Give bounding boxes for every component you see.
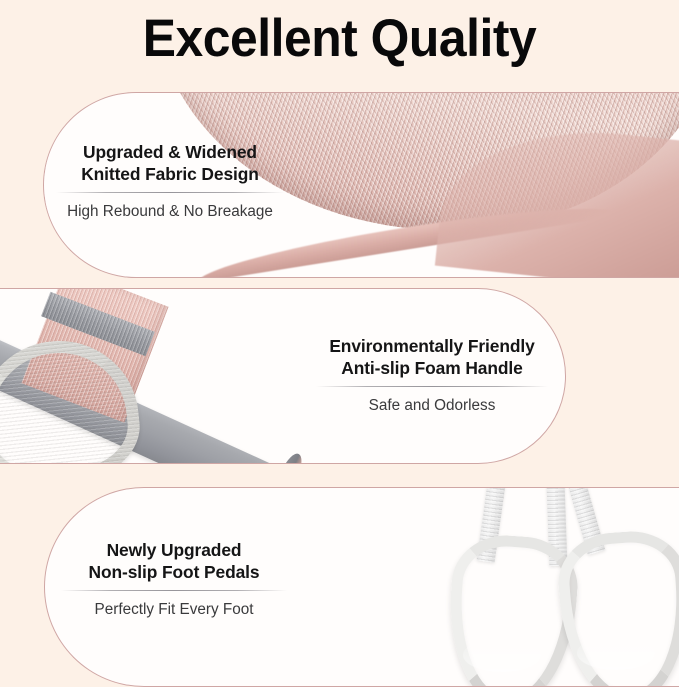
foam-tube-end-cap-shape	[273, 450, 307, 464]
feature-headline-line2: Non-slip Foot Pedals	[56, 562, 292, 584]
feature-text-knitted-fabric: Upgraded & Widened Knitted Fabric Design…	[52, 142, 288, 221]
feature-subtitle: High Rebound & No Breakage	[52, 202, 288, 221]
handle-loop-strap-shape	[0, 333, 145, 464]
feature-subtitle: Perfectly Fit Every Foot	[56, 600, 292, 619]
pedal-riser-strap-center-shape	[547, 487, 568, 566]
feature-headline-line1: Environmentally Friendly	[312, 336, 552, 358]
pedal-riser-strap-left-shape	[477, 487, 506, 563]
pink-webbing-strap-shape	[21, 288, 168, 423]
feature-subtitle: Safe and Odorless	[312, 396, 552, 415]
pedal-loop-left-sheen	[463, 638, 541, 672]
pedal-loop-right-sheen	[577, 636, 655, 670]
text-divider	[56, 192, 284, 193]
text-divider	[316, 386, 548, 387]
feature-text-foot-pedals: Newly Upgraded Non-slip Foot Pedals Perf…	[56, 540, 292, 619]
infographic-page: Excellent Quality Upgraded & Widened Kni…	[0, 0, 679, 679]
text-divider	[61, 590, 287, 591]
foot-pedal-loop-left-shape	[443, 532, 581, 687]
knit-upper-edge-shape	[435, 116, 679, 278]
feature-headline-line2: Knitted Fabric Design	[52, 164, 288, 186]
foam-tube-shape	[0, 299, 319, 464]
feature-text-foam-handle: Environmentally Friendly Anti-slip Foam …	[312, 336, 552, 415]
grey-webbing-band-shape	[41, 292, 155, 356]
feature-headline-line1: Upgraded & Widened	[52, 142, 288, 164]
page-title: Excellent Quality	[20, 8, 658, 70]
feature-headline-line1: Newly Upgraded	[56, 540, 292, 562]
foot-pedal-loop-right-shape	[555, 528, 679, 687]
pedal-riser-strap-right-shape	[569, 487, 606, 555]
feature-headline-line2: Anti-slip Foam Handle	[312, 358, 552, 380]
